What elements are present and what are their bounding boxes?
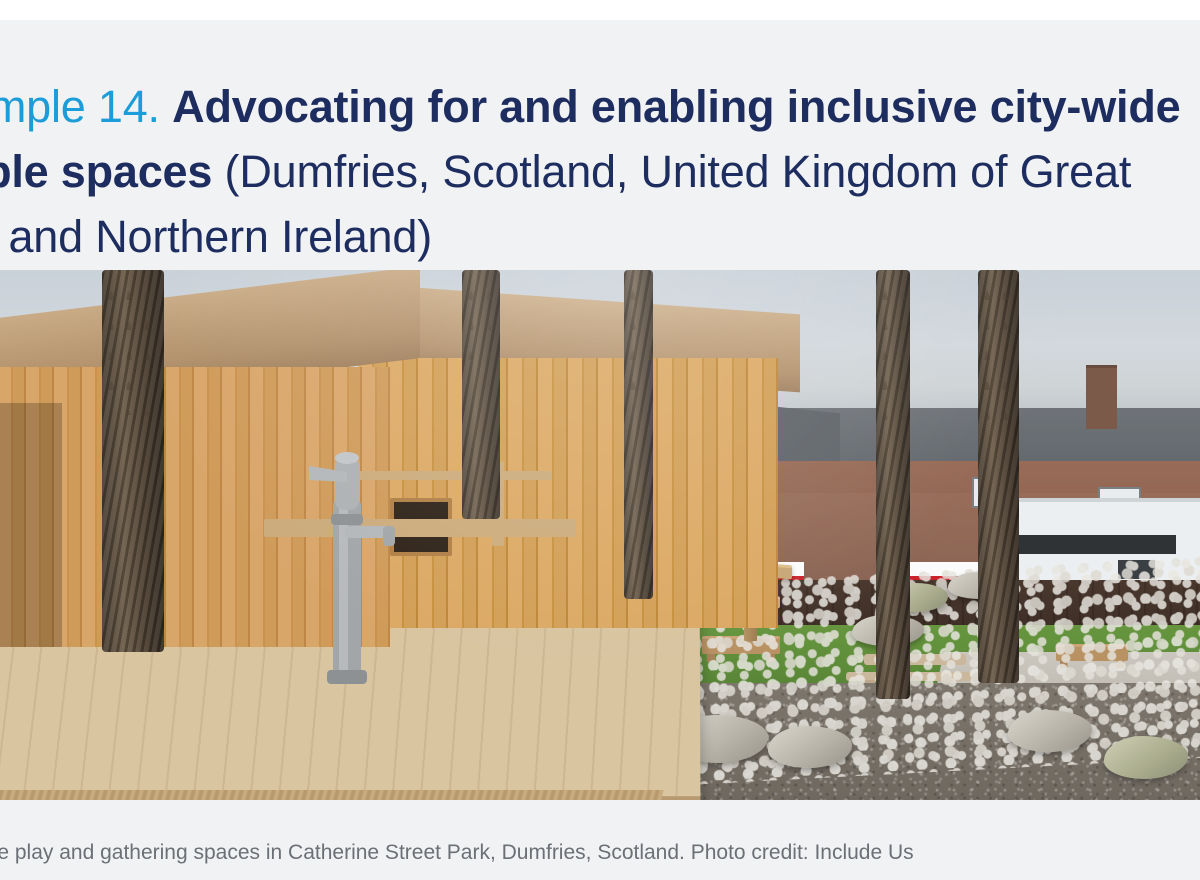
photo-caption-band: usive play and gathering spaces in Cathe… [0,800,1200,880]
chimney-2 [1086,365,1117,429]
tree-branches-5 [978,270,1019,427]
tree-trunk-5 [978,270,1019,683]
tree-trunk-2 [462,270,500,519]
top-gutter [0,0,1200,20]
page-root: ty example 14. Advocating for and enabli… [0,0,1200,880]
example-heading-band: ty example 14. Advocating for and enabli… [0,20,1200,270]
example-photo [0,270,1200,800]
photo-canvas [0,270,1200,800]
example-number-label: ty example 14. [0,81,160,132]
tree-trunk-4 [876,270,910,699]
tree-branches-4 [876,270,910,433]
photo-caption: usive play and gathering spaces in Cathe… [0,839,1200,867]
play-cabin-side-wall [0,403,62,647]
tree-branches-3 [624,270,653,395]
tree-branches-1 [102,270,164,415]
outbuilding-window-band [1008,535,1175,554]
deck-fascia-boards [0,790,664,800]
page-title: ty example 14. Advocating for and enabli… [0,74,1190,269]
hand-water-pump [287,430,407,690]
tree-trunk-1 [102,270,164,652]
tree-trunk-3 [624,270,653,599]
play-shelter-wall [358,358,778,628]
tree-branches-2 [462,270,500,365]
